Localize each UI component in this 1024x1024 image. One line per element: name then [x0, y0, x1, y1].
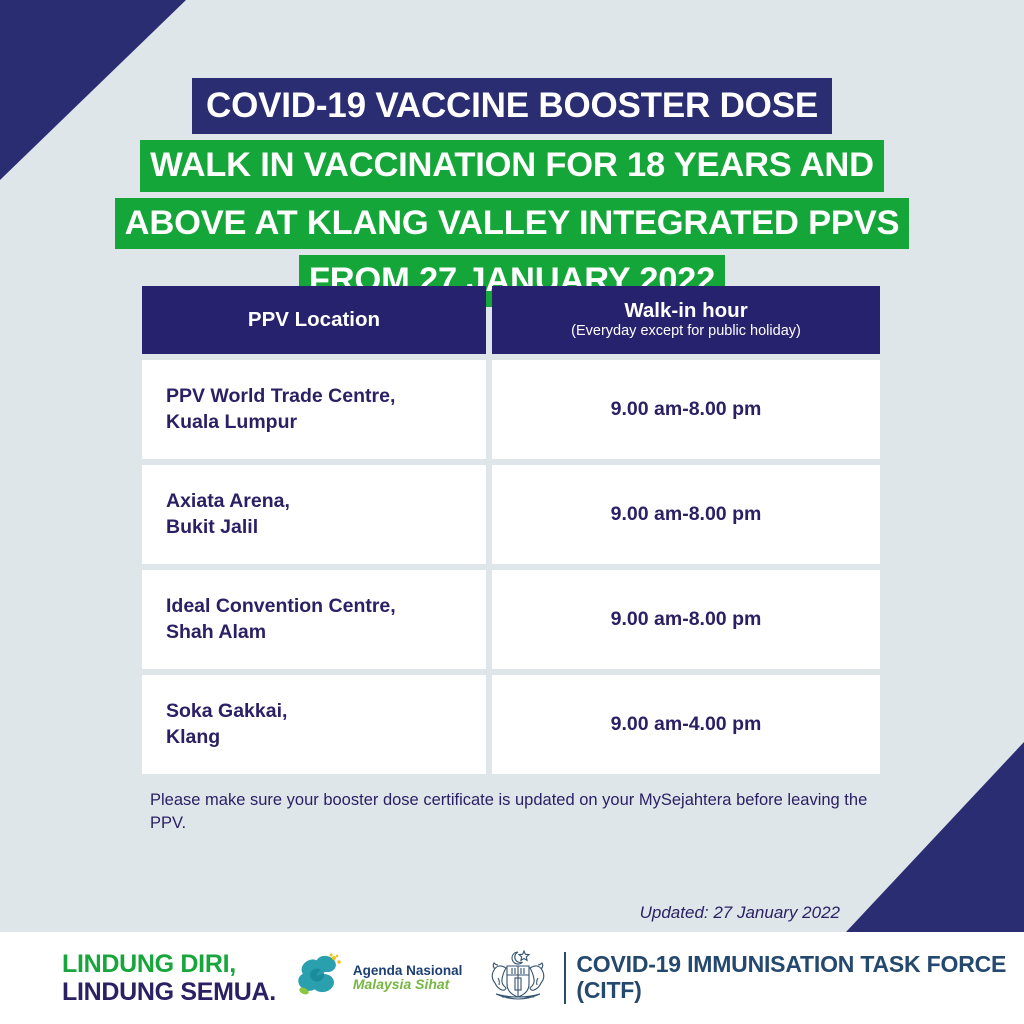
- column-header-location-label: PPV Location: [248, 309, 380, 332]
- location-line-1: PPV World Trade Centre,: [166, 385, 395, 407]
- location-line-1: Soka Gakkai,: [166, 700, 287, 722]
- table-body: PPV World Trade Centre, Kuala Lumpur 9.0…: [142, 360, 880, 774]
- ppv-schedule-table: PPV Location Walk-in hour (Everyday exce…: [142, 286, 880, 774]
- citf-title-line-1: COVID-19 IMMUNISATION TASK FORCE: [576, 951, 1006, 977]
- location-text: Soka Gakkai, Klang: [166, 699, 287, 750]
- table-header-row: PPV Location Walk-in hour (Everyday exce…: [142, 286, 880, 354]
- cell-location: Ideal Convention Centre, Shah Alam: [142, 570, 486, 669]
- citf-logo: COVID-19 IMMUNISATION TASK FORCE (CITF): [480, 944, 1006, 1013]
- footnote-text: Please make sure your booster dose certi…: [150, 789, 880, 835]
- agenda-nasional-line-2: Malaysia Sihat: [353, 977, 463, 992]
- malaysia-coat-of-arms-icon: [480, 944, 556, 1013]
- location-text: Axiata Arena, Bukit Jalil: [166, 489, 290, 540]
- cell-hours: 9.00 am-8.00 pm: [492, 360, 880, 459]
- cell-hours: 9.00 am-4.00 pm: [492, 675, 880, 774]
- location-line-1: Ideal Convention Centre,: [166, 595, 396, 617]
- column-header-hour-subtitle: (Everyday except for public holiday): [571, 323, 801, 340]
- citf-title: COVID-19 IMMUNISATION TASK FORCE (CITF): [576, 952, 1006, 1004]
- table-row: PPV World Trade Centre, Kuala Lumpur 9.0…: [142, 360, 880, 459]
- location-line-1: Axiata Arena,: [166, 490, 290, 512]
- poster-root: COVID-19 VACCINE BOOSTER DOSE WALK IN VA…: [0, 0, 1024, 1024]
- headline-row-1: COVID-19 VACCINE BOOSTER DOSE: [0, 78, 1024, 134]
- cell-hours: 9.00 am-8.00 pm: [492, 465, 880, 564]
- slogan-line-2: LINDUNG SEMUA.: [62, 978, 276, 1006]
- citf-title-line-2: (CITF): [576, 978, 1006, 1004]
- cell-location: PPV World Trade Centre, Kuala Lumpur: [142, 360, 486, 459]
- headline-subtitle-line-2: ABOVE AT KLANG VALLEY INTEGRATED PPVS: [115, 198, 910, 250]
- cell-hours: 9.00 am-8.00 pm: [492, 570, 880, 669]
- table-row: Ideal Convention Centre, Shah Alam 9.00 …: [142, 570, 880, 669]
- location-line-2: Bukit Jalil: [166, 516, 258, 538]
- location-text: PPV World Trade Centre, Kuala Lumpur: [166, 384, 395, 435]
- location-text: Ideal Convention Centre, Shah Alam: [166, 594, 396, 645]
- updated-timestamp: Updated: 27 January 2022: [0, 903, 840, 923]
- location-line-2: Kuala Lumpur: [166, 411, 297, 433]
- table-row: Soka Gakkai, Klang 9.00 am-4.00 pm: [142, 675, 880, 774]
- headline-subtitle-line-1: WALK IN VACCINATION FOR 18 YEARS AND: [140, 140, 884, 192]
- headline-block: COVID-19 VACCINE BOOSTER DOSE WALK IN VA…: [0, 78, 1024, 307]
- headline-title: COVID-19 VACCINE BOOSTER DOSE: [192, 78, 832, 134]
- agenda-nasional-logo: Agenda Nasional Malaysia Sihat: [296, 951, 463, 1006]
- hibiscus-flower-icon: [296, 951, 348, 1006]
- slogan-line-1: LINDUNG DIRI,: [62, 950, 276, 978]
- location-line-2: Shah Alam: [166, 621, 266, 643]
- headline-row-3: ABOVE AT KLANG VALLEY INTEGRATED PPVS: [0, 198, 1024, 250]
- cell-location: Axiata Arena, Bukit Jalil: [142, 465, 486, 564]
- campaign-slogan: LINDUNG DIRI, LINDUNG SEMUA.: [62, 950, 276, 1006]
- column-header-location: PPV Location: [142, 286, 486, 354]
- location-line-2: Klang: [166, 726, 220, 748]
- agenda-nasional-text: Agenda Nasional Malaysia Sihat: [353, 964, 463, 992]
- headline-row-2: WALK IN VACCINATION FOR 18 YEARS AND: [0, 140, 1024, 192]
- column-header-hour-label: Walk-in hour: [624, 300, 747, 323]
- cell-location: Soka Gakkai, Klang: [142, 675, 486, 774]
- footer-bar: LINDUNG DIRI, LINDUNG SEMUA.: [0, 932, 1024, 1024]
- citf-divider: [564, 952, 566, 1004]
- table-row: Axiata Arena, Bukit Jalil 9.00 am-8.00 p…: [142, 465, 880, 564]
- column-header-hour: Walk-in hour (Everyday except for public…: [492, 286, 880, 354]
